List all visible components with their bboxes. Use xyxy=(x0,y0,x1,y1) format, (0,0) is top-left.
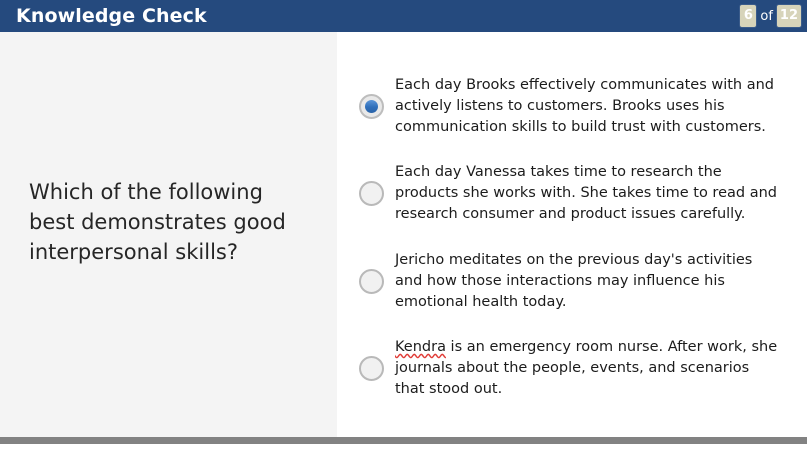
counter-total: 12 xyxy=(777,5,801,27)
answer-option-1[interactable]: Each day Brooks effectively communicates… xyxy=(359,75,779,138)
footer-spacer xyxy=(0,444,807,449)
answer-option-4[interactable]: Kendra is an emergency room nurse. After… xyxy=(359,337,779,400)
page-title: Knowledge Check xyxy=(16,7,207,26)
app-header: Knowledge Check 6 of 12 xyxy=(0,0,807,32)
misspelled-word: Kendra xyxy=(395,339,446,355)
answer-option-1-label: Each day Brooks effectively communicates… xyxy=(395,75,779,138)
counter-current: 6 xyxy=(740,5,756,27)
counter-separator: of xyxy=(759,10,774,23)
answer-option-4-label-rest: is an emergency room nurse. After work, … xyxy=(395,339,777,397)
answers-panel: Each day Brooks effectively communicates… xyxy=(337,32,807,437)
question-panel: Which of the following best demonstrates… xyxy=(0,32,337,437)
answer-option-2-label: Each day Vanessa takes time to research … xyxy=(395,162,779,225)
radio-button-selected-icon[interactable] xyxy=(359,94,384,119)
slide-counter: 6 of 12 xyxy=(740,5,801,27)
footer-divider-bar xyxy=(0,437,807,444)
answer-option-4-label: Kendra is an emergency room nurse. After… xyxy=(395,337,779,400)
radio-button-icon[interactable] xyxy=(359,356,384,381)
answer-option-3[interactable]: Jericho meditates on the previous day's … xyxy=(359,250,779,313)
radio-button-icon[interactable] xyxy=(359,181,384,206)
radio-button-icon[interactable] xyxy=(359,269,384,294)
answer-option-3-label: Jericho meditates on the previous day's … xyxy=(395,250,779,313)
slide-body: Which of the following best demonstrates… xyxy=(0,32,807,437)
question-text: Which of the following best demonstrates… xyxy=(29,177,314,268)
answer-option-2[interactable]: Each day Vanessa takes time to research … xyxy=(359,162,779,225)
